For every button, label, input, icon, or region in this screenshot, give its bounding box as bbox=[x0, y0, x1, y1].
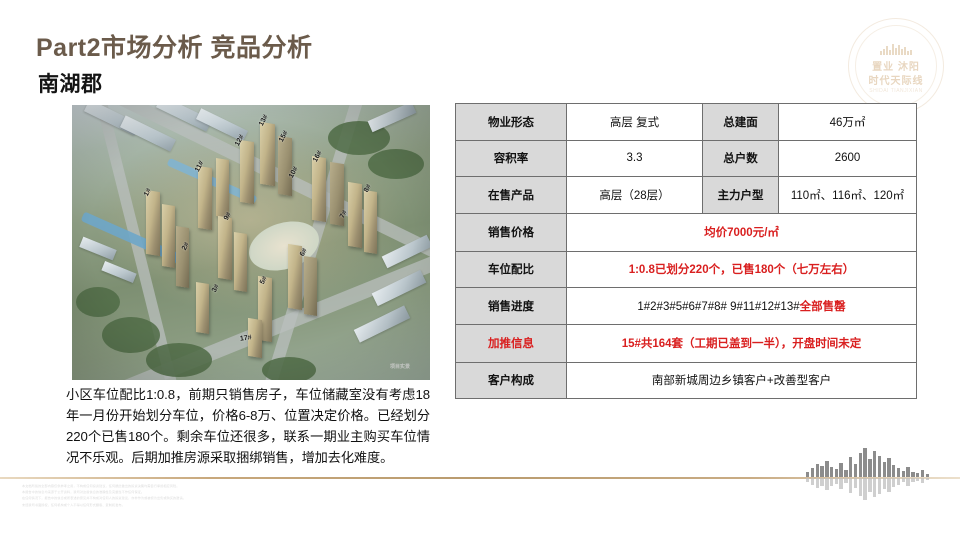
cell-value: 110㎡、116㎡、120㎡ bbox=[779, 177, 917, 214]
cell-label: 车位配比 bbox=[456, 251, 567, 288]
table-row: 加推信息 15#共164套（工期已盖到一半），开盘时间未定 bbox=[456, 324, 917, 362]
table-row: 容积率 3.3 总户数 2600 bbox=[456, 140, 917, 177]
project-name-heading: 南湖郡 bbox=[38, 68, 103, 98]
cell-label: 物业形态 bbox=[456, 104, 567, 141]
company-seal-watermark: 置业 沐阳 时代天际线 SHIDAI TIANJIXIAN bbox=[848, 18, 944, 114]
footer-disclaimer: 本文档所载的全部内容仅供参考之用，不构成任何投资建议，任何据此做出的投资决策均需… bbox=[22, 483, 352, 508]
cell-value: 46万㎡ bbox=[779, 104, 917, 141]
photo-caption: 小区车位配比1:0.8，前期只销售房子，车位储藏室没有考虑18年一月份开始划分车… bbox=[66, 384, 430, 468]
photo-vignette bbox=[72, 105, 430, 380]
page-title: Part2市场分析 竞品分析 bbox=[36, 28, 312, 64]
cell-value: 1#2#3#5#6#7#8# 9#11#12#13#全部售罄 bbox=[567, 288, 917, 325]
cell-label: 在售产品 bbox=[456, 177, 567, 214]
cell-label: 容积率 bbox=[456, 140, 567, 177]
table-row: 在售产品 高层（28层） 主力户型 110㎡、116㎡、120㎡ bbox=[456, 177, 917, 214]
slide-root: Part2市场分析 竞品分析 南湖郡 置业 沐阳 时代天际线 SHIDAI TI… bbox=[0, 0, 960, 540]
skyline-buildings bbox=[806, 448, 929, 477]
skyline-reflection bbox=[806, 478, 929, 500]
cell-label: 总建面 bbox=[703, 104, 779, 141]
cell-label: 主力户型 bbox=[703, 177, 779, 214]
cell-value: 高层 复式 bbox=[567, 104, 703, 141]
seal-line-1: 置业 沐阳 bbox=[848, 58, 944, 73]
table-row: 车位配比 1:0.8已划分220个，已售180个（七万左右） bbox=[456, 251, 917, 288]
seal-micro-text: SHIDAI TIANJIXIAN bbox=[848, 88, 944, 94]
cell-value: 2600 bbox=[779, 140, 917, 177]
seal-line-2: 时代天际线 bbox=[848, 72, 944, 87]
aerial-rendering-image: 13# 12# 15# 11# 16# 10# 8# 1# 7# 9# 2# 6… bbox=[72, 105, 430, 380]
cell-value: 南部新城周边乡镇客户+改善型客户 bbox=[567, 362, 917, 399]
cell-value: 1:0.8已划分220个，已售180个（七万左右） bbox=[567, 251, 917, 288]
sales-progress-black: 1#2#3#5#6#7#8# 9#11#12#13# bbox=[637, 301, 799, 313]
table-row: 销售进度 1#2#3#5#6#7#8# 9#11#12#13#全部售罄 bbox=[456, 288, 917, 325]
cell-value: 高层（28层） bbox=[567, 177, 703, 214]
footer-skyline-graphic bbox=[806, 447, 936, 507]
cell-value: 15#共164套（工期已盖到一半），开盘时间未定 bbox=[567, 324, 917, 362]
seal-skyline-icon bbox=[880, 44, 912, 55]
cell-label: 客户构成 bbox=[456, 362, 567, 399]
cell-value: 3.3 bbox=[567, 140, 703, 177]
competitor-spec-table: 物业形态 高层 复式 总建面 46万㎡ 容积率 3.3 总户数 2600 在售产… bbox=[455, 103, 917, 399]
cell-label: 总户数 bbox=[703, 140, 779, 177]
table-row: 物业形态 高层 复式 总建面 46万㎡ bbox=[456, 104, 917, 141]
cell-value: 均价7000元/㎡ bbox=[567, 213, 917, 251]
cell-label: 销售进度 bbox=[456, 288, 567, 325]
table-row: 客户构成 南部新城周边乡镇客户+改善型客户 bbox=[456, 362, 917, 399]
table-row: 销售价格 均价7000元/㎡ bbox=[456, 213, 917, 251]
cell-label: 加推信息 bbox=[456, 324, 567, 362]
disclaimer-line: 未经我司书面授权，任何机构或个人不得以任何形式翻版、复制和发布。 bbox=[22, 502, 352, 508]
cell-label: 销售价格 bbox=[456, 213, 567, 251]
sales-progress-red: 全部售罄 bbox=[800, 301, 846, 313]
